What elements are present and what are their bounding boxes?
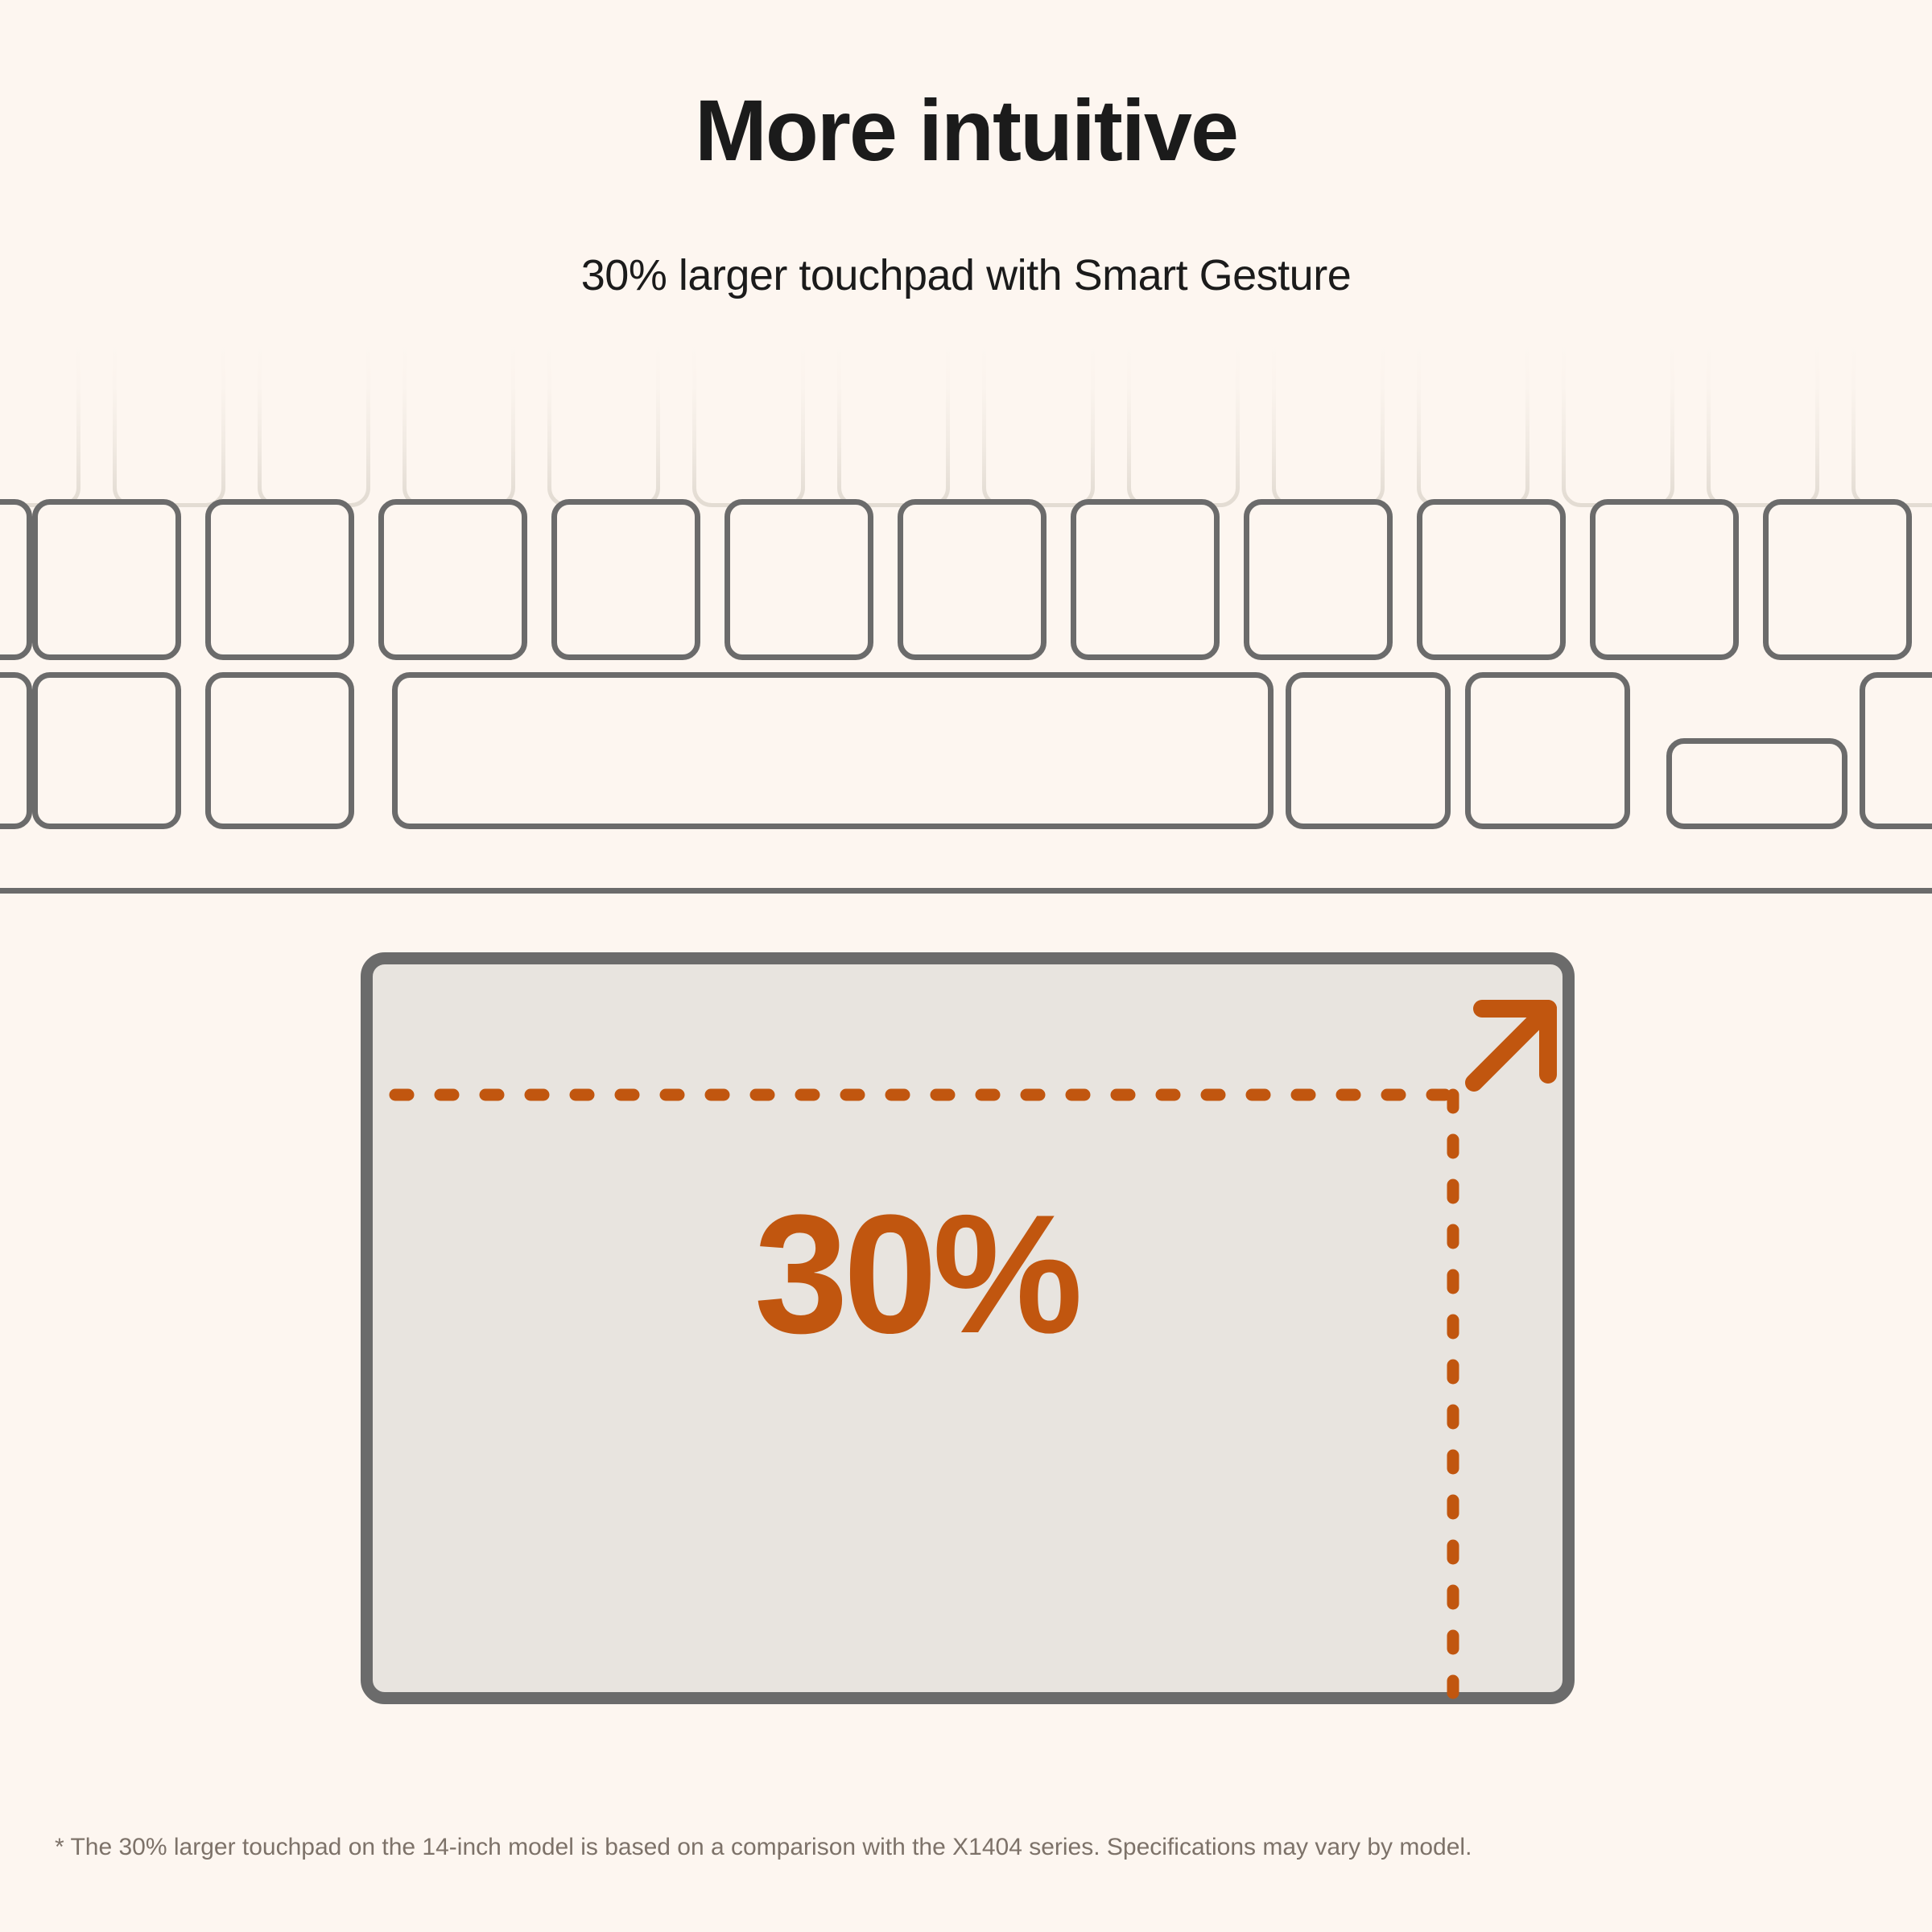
- keyboard-key: [1465, 672, 1630, 829]
- keyboard-key: [982, 326, 1095, 507]
- keyboard-key: [551, 499, 700, 660]
- touchpad-graphic: 30%: [361, 952, 1575, 1704]
- keyboard-key: [258, 326, 370, 507]
- page-title: More intuitive: [0, 87, 1932, 174]
- keyboard-key: [1562, 326, 1674, 507]
- arrow-up-right-icon: [1474, 1009, 1548, 1083]
- keyboard-key: [837, 326, 950, 507]
- footnote-disclaimer: * The 30% larger touchpad on the 14-inch…: [55, 1831, 1890, 1863]
- keyboard-key: [1417, 499, 1566, 660]
- keyboard-key: [724, 499, 873, 660]
- touchpad-increase-label: 30%: [373, 1190, 1459, 1359]
- keyboard-key: [692, 326, 805, 507]
- palmrest-divider-line: [0, 888, 1932, 894]
- keyboard-key: [1127, 326, 1240, 507]
- promo-slide: More intuitive 30% larger touchpad with …: [0, 0, 1932, 1932]
- keyboard-key: [113, 326, 225, 507]
- keyboard-key: [898, 499, 1046, 660]
- keyboard-key: [402, 326, 515, 507]
- keyboard-key: [392, 672, 1274, 829]
- keyboard-key: [0, 499, 32, 660]
- keyboard-key: [205, 499, 354, 660]
- page-subtitle: 30% larger touchpad with Smart Gesture: [0, 254, 1932, 297]
- keyboard-key: [205, 672, 354, 829]
- keyboard-key: [1860, 672, 1932, 829]
- keyboard-key: [1666, 738, 1847, 829]
- keyboard-illustration: [0, 306, 1932, 894]
- keyboard-key: [1763, 499, 1912, 660]
- keyboard-key: [1707, 326, 1819, 507]
- keyboard-key: [1272, 326, 1385, 507]
- keyboard-key: [32, 672, 181, 829]
- keyboard-key: [547, 326, 660, 507]
- keyboard-key: [1590, 499, 1739, 660]
- keyboard-key: [32, 499, 181, 660]
- keyboard-key: [1244, 499, 1393, 660]
- keyboard-key: [0, 672, 32, 829]
- keyboard-key: [1286, 672, 1451, 829]
- keyboard-key: [1851, 326, 1932, 507]
- keyboard-key: [1071, 499, 1220, 660]
- keyboard-key: [0, 326, 80, 507]
- keyboard-key: [1417, 326, 1529, 507]
- keyboard-key: [378, 499, 527, 660]
